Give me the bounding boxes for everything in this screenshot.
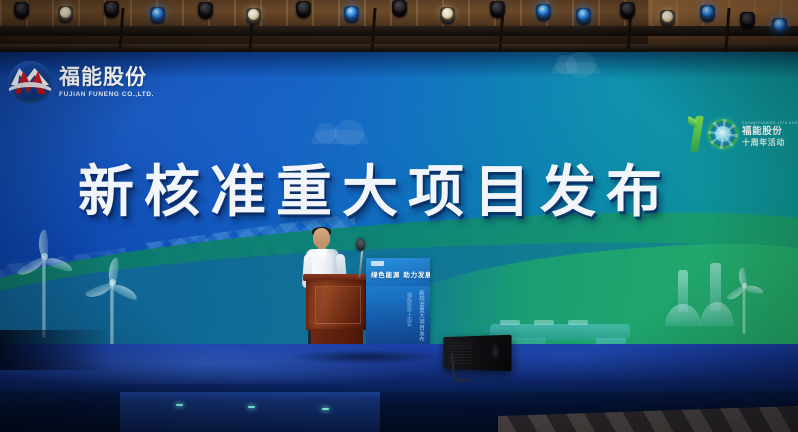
stage-light-fixture (296, 1, 311, 18)
light-lens-icon (152, 8, 163, 19)
light-lens-icon (16, 3, 27, 14)
step-edge-light (248, 406, 255, 408)
bridge-rail (500, 320, 520, 325)
stage-light-fixture (198, 2, 213, 19)
stage-event-photo: 新核准重大项目发布 福能股份 FUJIAN FUNENG CO.,LTD. FU… (0, 0, 798, 432)
lectern-body (306, 280, 368, 330)
cloud-icon (312, 130, 368, 144)
podium-banner-sign: 绿色能源 助力发展 新核准重大项目发布 福能股份十周年 (366, 258, 430, 354)
anniversary-text-block: FUJIAN FUNENG 10TH ANNIVERSARY 福能股份 十周年活… (742, 121, 798, 147)
bridge-rail (568, 320, 588, 325)
stage-light-fixture (700, 5, 715, 22)
anniversary-digit-one (688, 116, 704, 152)
anniversary-badge: FUJIAN FUNENG 10TH ANNIVERSARY 福能股份 十周年活… (688, 114, 784, 154)
stage-light-fixture (440, 7, 455, 24)
stage-light-fixture (392, 0, 407, 17)
step-edge-light (176, 404, 183, 406)
turbine-blade (43, 255, 74, 273)
light-lens-icon (442, 8, 453, 19)
stage-light-fixture (536, 4, 551, 21)
stage-light-fixture (740, 12, 755, 29)
stage-light-fixture (660, 10, 675, 27)
stage-light-fixture (14, 2, 29, 19)
light-lens-icon (492, 2, 503, 13)
emblem-petals (708, 119, 738, 149)
logo-arc (8, 82, 52, 103)
light-lens-icon (702, 6, 713, 17)
sign-logo-icon (371, 261, 384, 266)
light-lens-icon (742, 13, 753, 24)
sign-header-band: 绿色能源 助力发展 (366, 258, 430, 286)
stage-light-fixture (150, 7, 165, 24)
turbine-blade (743, 284, 764, 295)
stage-light-fixture (104, 1, 119, 18)
speaker-cable (450, 351, 469, 383)
light-lens-icon (662, 11, 673, 22)
page-title: 新核准重大项目发布 (78, 164, 748, 220)
company-name-cn: 福能股份 (59, 66, 154, 88)
company-name-en: FUJIAN FUNENG CO.,LTD. (59, 91, 154, 98)
sign-title-text: 绿色能源 助力发展 (371, 269, 426, 279)
stage-light-fixture (344, 6, 359, 23)
microphone-icon (356, 238, 365, 251)
stage-light-fixture (490, 1, 505, 18)
bridge-rail (534, 320, 554, 325)
mountain-shield-icon (8, 61, 52, 103)
light-lens-icon (394, 1, 405, 12)
light-lens-icon (298, 2, 309, 13)
lectern-front-panel (315, 286, 361, 324)
light-lens-icon (622, 3, 633, 14)
light-lens-icon (106, 2, 117, 13)
sign-vertical-text-1: 新核准重大项目发布 (414, 290, 424, 342)
light-lens-icon (538, 5, 549, 16)
corporate-logo: 福能股份 FUJIAN FUNENG CO.,LTD. (8, 56, 198, 108)
stage-light-fixture (576, 8, 591, 25)
light-lens-icon (200, 3, 211, 14)
stage-light-fixture (58, 6, 73, 23)
sign-vertical-text-2: 福能股份十周年 (402, 292, 412, 327)
turbine-mast (42, 256, 46, 338)
stage-light-fixture (620, 2, 635, 19)
stage-left-shadow (0, 330, 110, 370)
lectern-floor-shadow (290, 350, 440, 364)
anniversary-tagline: FUJIAN FUNENG 10TH ANNIVERSARY (742, 121, 798, 125)
light-lens-icon (60, 7, 71, 18)
light-lens-icon (346, 7, 357, 18)
wind-turbine-icon (14, 230, 74, 338)
turbine-mast (110, 282, 114, 352)
light-lens-icon (578, 9, 589, 20)
stage-light-fixture (246, 8, 261, 25)
anniversary-line-2: 十周年活动 (742, 139, 798, 147)
stage-step-riser (120, 400, 380, 432)
anniversary-line-1: 福能股份 (742, 127, 798, 137)
turbine-blade (38, 229, 48, 259)
turbine-blade (108, 257, 120, 286)
ceiling-truss-area (0, 0, 798, 60)
light-lens-icon (248, 9, 259, 20)
anniversary-emblem-icon (708, 119, 738, 149)
turbine-blade (738, 267, 748, 288)
light-lens-icon (774, 19, 785, 30)
cloud-icon (552, 62, 600, 74)
stage-light-fixture (772, 18, 787, 35)
step-edge-light (322, 408, 329, 410)
turbine-mast (743, 286, 746, 334)
corporate-logo-text: 福能股份 FUJIAN FUNENG CO.,LTD. (59, 66, 154, 97)
